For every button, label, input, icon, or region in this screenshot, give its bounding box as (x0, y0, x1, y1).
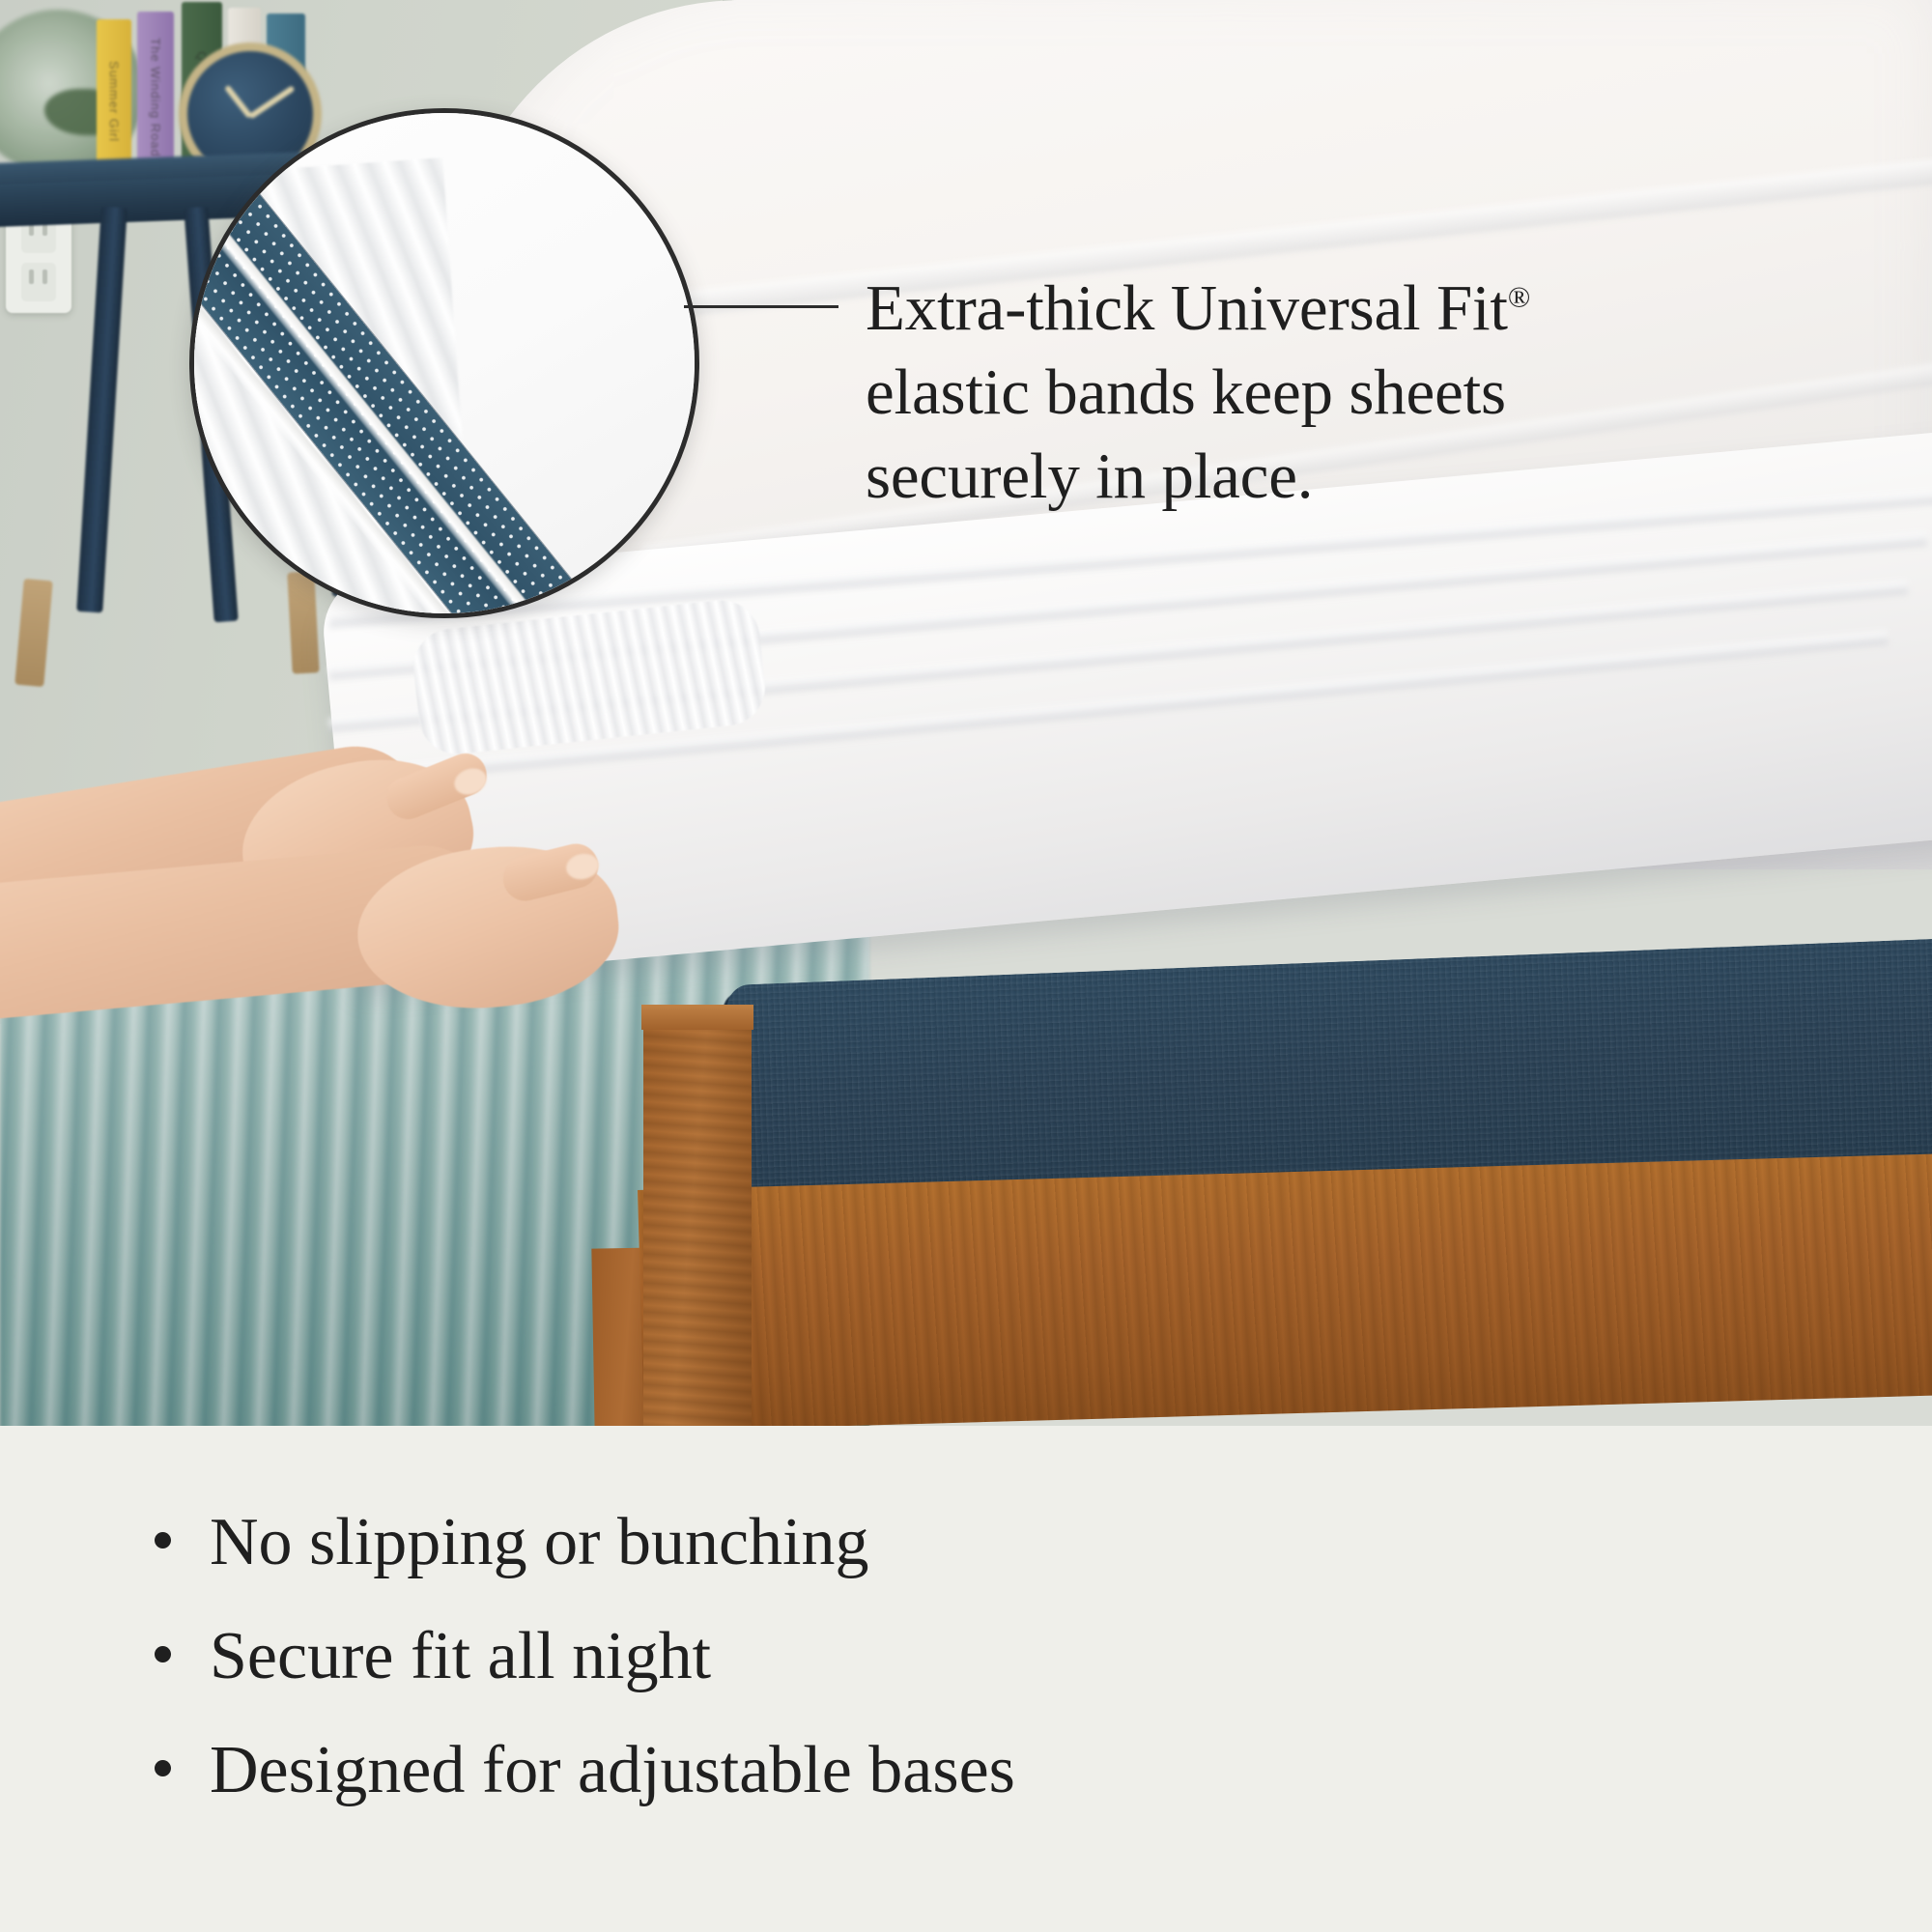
list-item: Secure fit all night (155, 1623, 1015, 1690)
list-item: No slipping or bunching (155, 1509, 1015, 1577)
callout-leader-line (684, 305, 838, 308)
book-title: Summer Girl (107, 61, 122, 142)
feature-list-panel: No slipping or bunching Secure fit all n… (0, 1426, 1932, 1932)
outlet-socket-bottom (21, 263, 56, 301)
product-photo: Summer Girl The Winding Road Quiet Place… (0, 0, 1932, 1426)
headline-line-3: securely in place. (866, 435, 1889, 519)
headline-line-1: Extra-thick Universal Fit® (866, 267, 1889, 351)
headline-line-2: elastic bands keep sheets (866, 351, 1889, 435)
bullet-dot-icon (155, 1646, 171, 1662)
bullet-label: Designed for adjustable bases (210, 1737, 1015, 1804)
bed-frame-post (643, 1012, 752, 1426)
headline: Extra-thick Universal Fit® elastic bands… (866, 267, 1889, 519)
feature-bullet-list: No slipping or bunching Secure fit all n… (155, 1509, 1015, 1851)
book-title: The Winding Road (149, 38, 163, 157)
bullet-dot-icon (155, 1760, 171, 1776)
list-item: Designed for adjustable bases (155, 1737, 1015, 1804)
registered-trademark-icon: ® (1508, 281, 1530, 314)
bullet-label: Secure fit all night (210, 1623, 711, 1690)
product-feature-graphic: Summer Girl The Winding Road Quiet Place… (0, 0, 1932, 1932)
bed-frame-post-cap (641, 1005, 753, 1030)
headline-line-1-text: Extra-thick Universal Fit (866, 272, 1508, 344)
bullet-dot-icon (155, 1532, 171, 1548)
elastic-band-callout-circle (189, 108, 699, 618)
bed-frame-rail (638, 1153, 1932, 1426)
bullet-label: No slipping or bunching (210, 1509, 868, 1577)
